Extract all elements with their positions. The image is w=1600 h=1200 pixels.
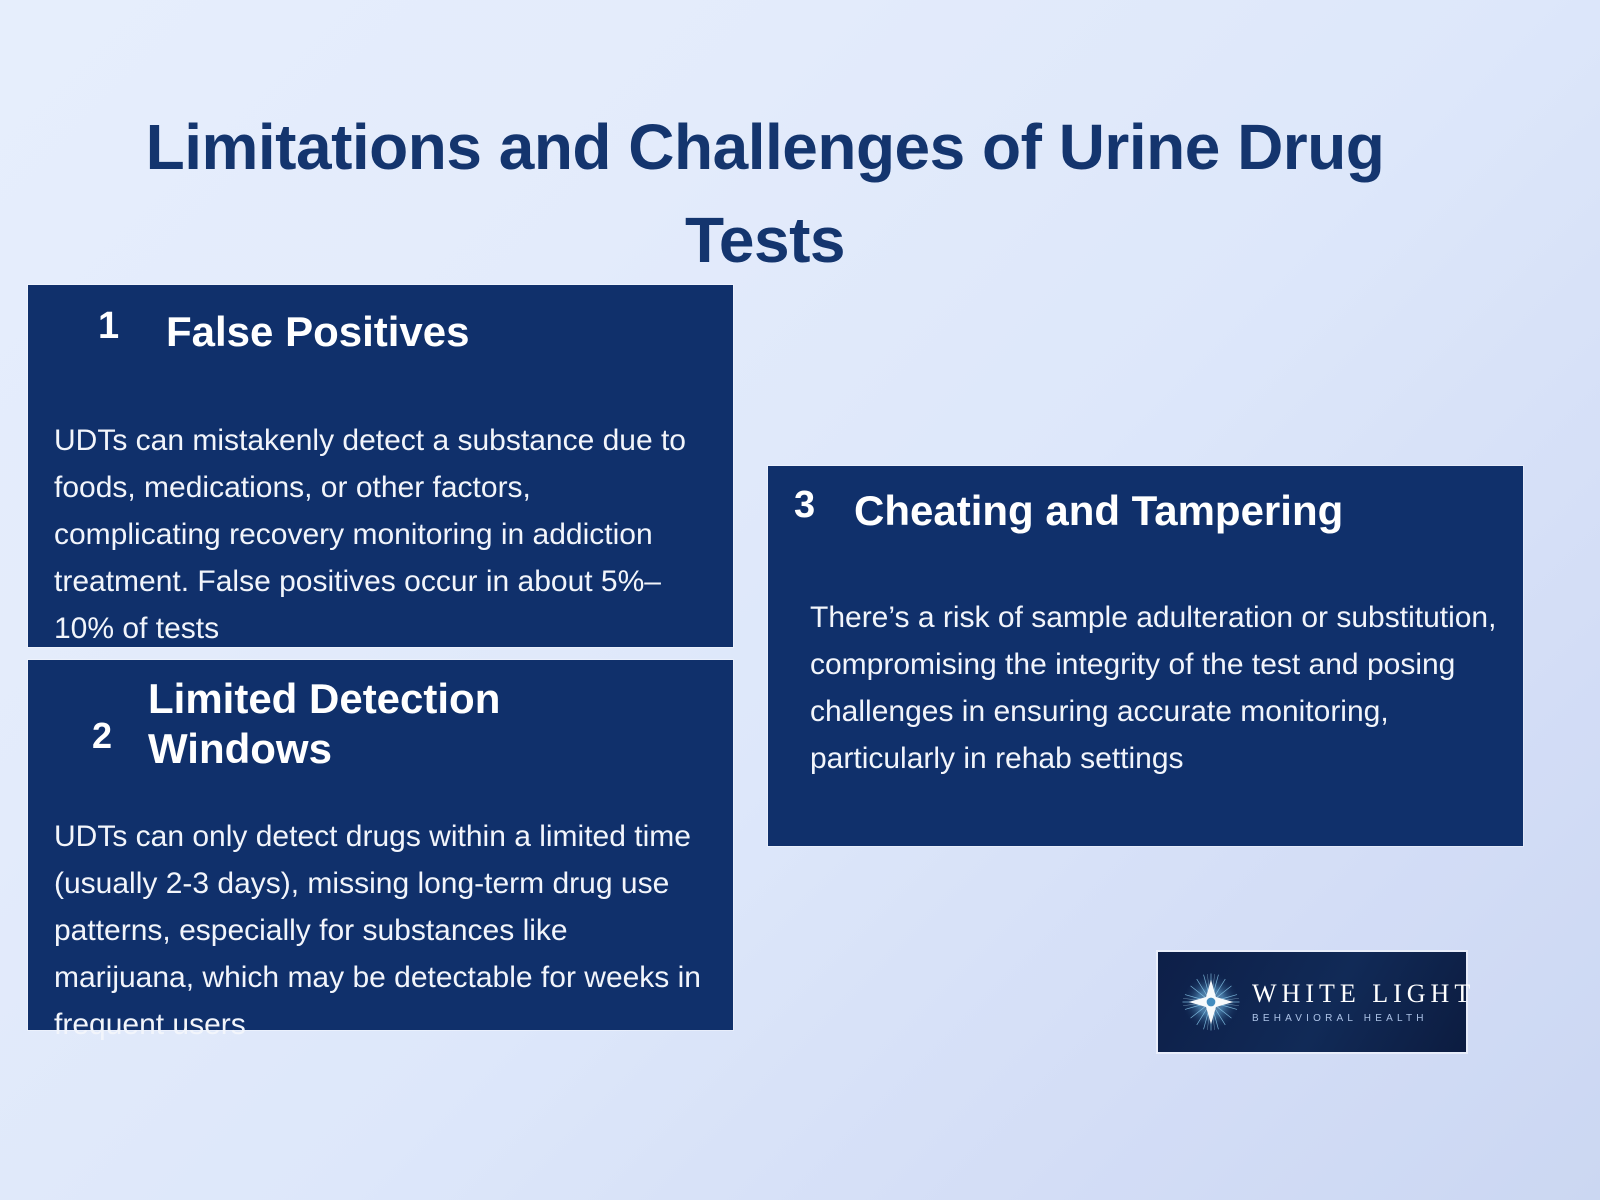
card-title: Limited Detection Windows: [148, 674, 618, 773]
card-false-positives: 1 False Positives UDTs can mistakenly de…: [28, 285, 733, 647]
page-title: Limitations and Challenges of Urine Drug…: [120, 101, 1410, 287]
starburst-star-icon: [1180, 971, 1242, 1033]
logo-name: WHITE LIGHT: [1252, 980, 1475, 1007]
logo-tagline: BEHAVIORAL HEALTH: [1252, 1013, 1475, 1024]
card-body-text: There’s a risk of sample adulteration or…: [768, 566, 1523, 782]
infographic-canvas: Limitations and Challenges of Urine Drug…: [0, 0, 1600, 1200]
card-header: 3 Cheating and Tampering: [768, 466, 1523, 536]
card-cheating-and-tampering: 3 Cheating and Tampering There’s a risk …: [768, 466, 1523, 846]
card-content: 3 Cheating and Tampering There’s a risk …: [768, 466, 1523, 846]
card-content: 1 False Positives UDTs can mistakenly de…: [28, 285, 733, 647]
card-title: Cheating and Tampering: [854, 486, 1523, 536]
card-number: 2: [92, 674, 148, 754]
card-number: 3: [794, 486, 854, 524]
card-limited-detection-windows: 2 Limited Detection Windows UDTs can onl…: [28, 660, 733, 1030]
card-header: 2 Limited Detection Windows: [28, 660, 733, 773]
logo-wordmark: WHITE LIGHT BEHAVIORAL HEALTH: [1252, 980, 1475, 1023]
card-title: False Positives: [166, 307, 733, 357]
card-header: 1 False Positives: [28, 285, 733, 357]
card-content: 2 Limited Detection Windows UDTs can onl…: [28, 660, 733, 1030]
card-number: 1: [98, 307, 166, 345]
card-body-text: UDTs can only detect drugs within a limi…: [28, 803, 733, 1048]
card-body-text: UDTs can mistakenly detect a substance d…: [28, 387, 733, 652]
brand-logo[interactable]: WHITE LIGHT BEHAVIORAL HEALTH: [1158, 952, 1466, 1052]
